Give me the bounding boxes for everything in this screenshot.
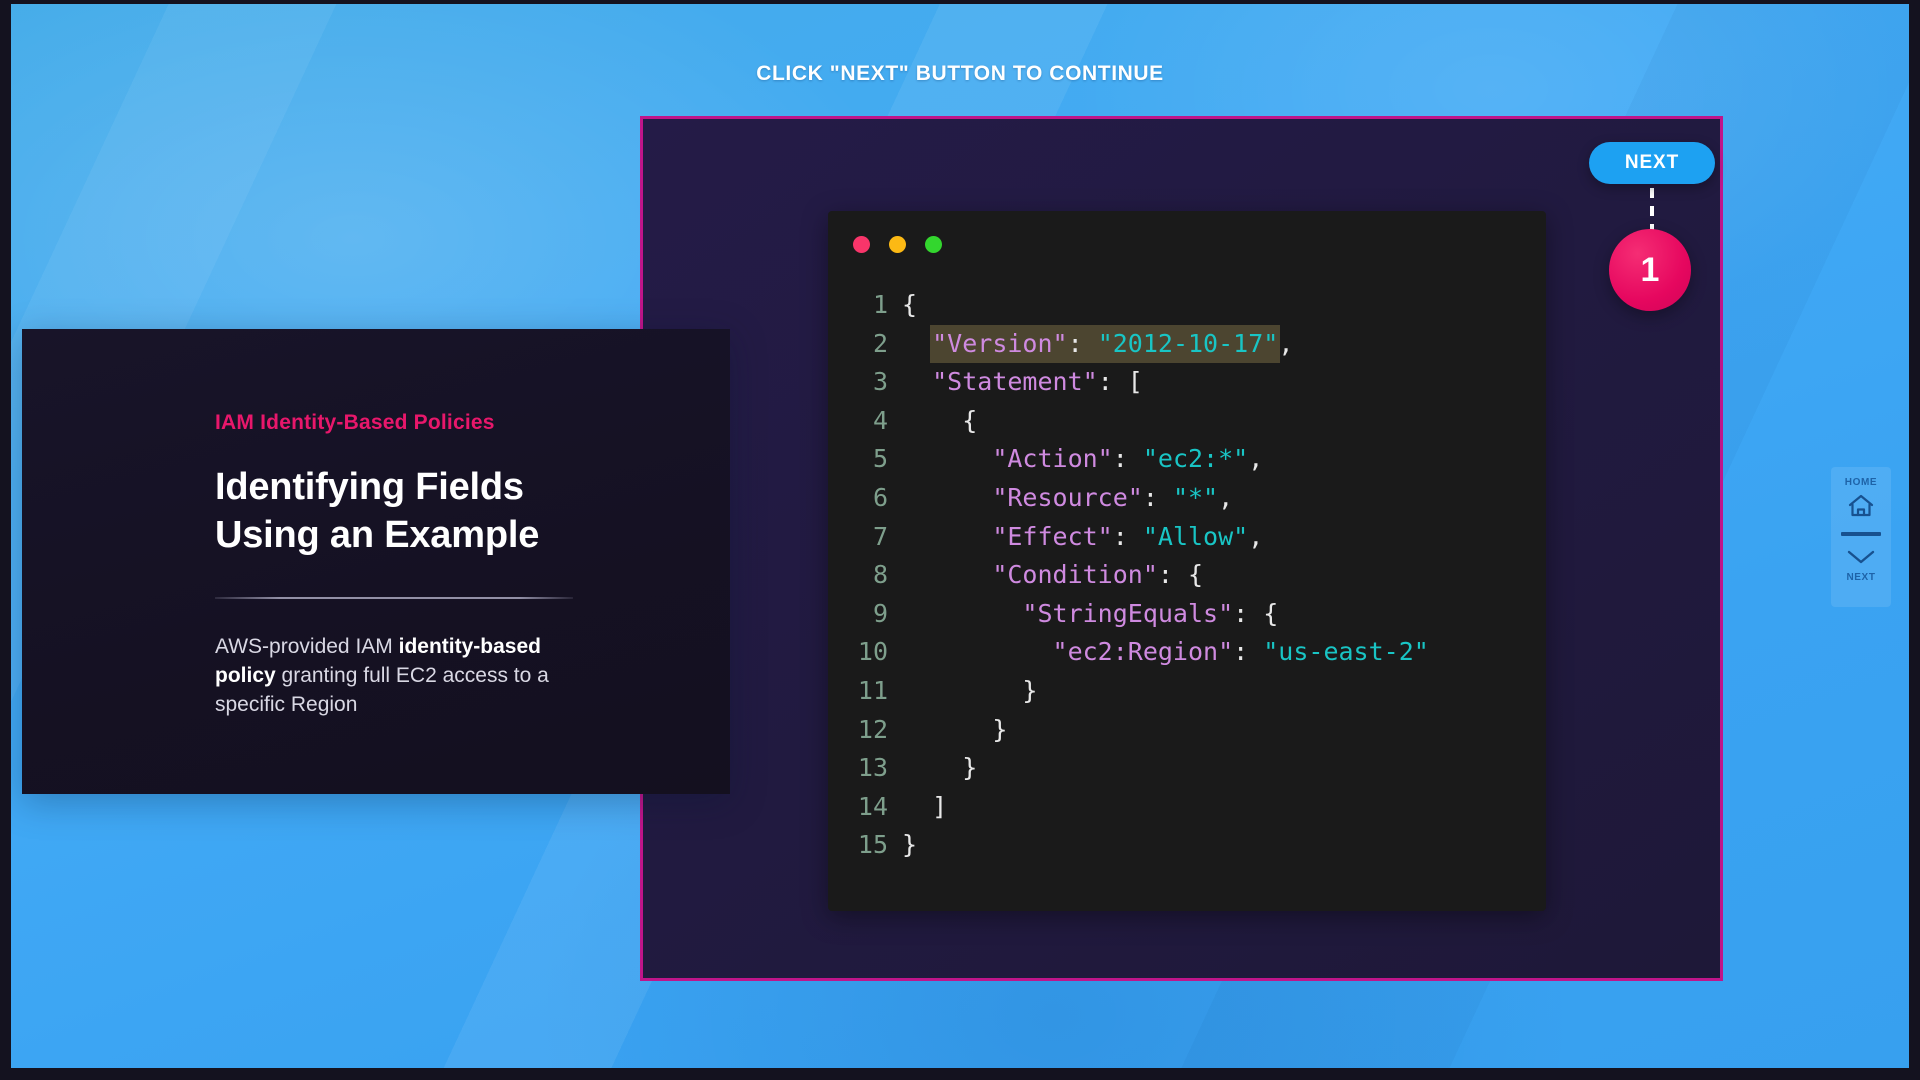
code-token: { xyxy=(962,406,977,435)
code-token: "StringEquals" xyxy=(1022,599,1233,628)
code-line: 13 } xyxy=(850,749,1536,788)
code-highlight: "Version": "2012-10-17" xyxy=(930,325,1280,363)
code-line-text: "Statement": [ xyxy=(902,363,1143,402)
code-line-text: } xyxy=(902,711,1007,750)
code-token: "Effect" xyxy=(992,522,1112,551)
code-line-number: 8 xyxy=(850,556,902,595)
code-token: : [ xyxy=(1098,367,1143,396)
card-eyebrow: IAM Identity-Based Policies xyxy=(215,411,690,435)
code-listing[interactable]: 1{2 "Version": "2012-10-17",3 "Statement… xyxy=(850,286,1536,865)
code-token: : { xyxy=(1158,560,1203,589)
code-token: { xyxy=(902,290,917,319)
code-line-text: { xyxy=(902,402,977,441)
code-token: : { xyxy=(1233,599,1278,628)
maximize-icon[interactable] xyxy=(925,236,942,253)
page-title: Identifying Fields Using an Example xyxy=(215,463,690,559)
code-line-number: 9 xyxy=(850,595,902,634)
code-line-text: "Effect": "Allow", xyxy=(902,518,1263,557)
code-line: 9 "StringEquals": { xyxy=(850,595,1536,634)
code-line-text: } xyxy=(902,826,917,865)
code-token: : xyxy=(1068,329,1098,358)
code-token: : xyxy=(1233,637,1263,666)
code-token: , xyxy=(1248,522,1263,551)
chevron-down-icon[interactable] xyxy=(1846,549,1876,570)
code-line-number: 14 xyxy=(850,788,902,827)
code-line-text: ] xyxy=(902,788,947,827)
outer-frame: CLICK "NEXT" BUTTON TO CONTINUE 1{2 "Ver… xyxy=(0,0,1920,1080)
code-line: 6 "Resource": "*", xyxy=(850,479,1536,518)
code-line-text: "Resource": "*", xyxy=(902,479,1233,518)
code-token: , xyxy=(1278,329,1293,358)
code-line: 2 "Version": "2012-10-17", xyxy=(850,325,1536,364)
divider xyxy=(215,597,573,599)
code-line-number: 1 xyxy=(850,286,902,325)
navigation-rail[interactable]: HOME NEXT xyxy=(1831,467,1891,607)
code-line-number: 2 xyxy=(850,325,902,364)
code-token: "Condition" xyxy=(992,560,1158,589)
code-line: 15} xyxy=(850,826,1536,865)
code-line-number: 11 xyxy=(850,672,902,711)
code-line-number: 10 xyxy=(850,633,902,672)
code-line: 1{ xyxy=(850,286,1536,325)
code-token: "*" xyxy=(1173,483,1218,512)
code-token: : xyxy=(1113,444,1143,473)
code-token: "Action" xyxy=(992,444,1112,473)
rail-home-label: HOME xyxy=(1845,477,1877,488)
next-button[interactable]: NEXT xyxy=(1589,142,1715,184)
code-line-text: "Condition": { xyxy=(902,556,1203,595)
code-line: 7 "Effect": "Allow", xyxy=(850,518,1536,557)
code-line-text: { xyxy=(902,286,917,325)
code-line: 8 "Condition": { xyxy=(850,556,1536,595)
window-traffic-lights xyxy=(853,236,942,253)
info-card: IAM Identity-Based Policies Identifying … xyxy=(22,329,730,794)
content-panel: 1{2 "Version": "2012-10-17",3 "Statement… xyxy=(640,116,1723,981)
code-token: , xyxy=(1248,444,1263,473)
instruction-banner: CLICK "NEXT" BUTTON TO CONTINUE xyxy=(11,62,1909,86)
code-token: : xyxy=(1143,483,1173,512)
code-line-number: 12 xyxy=(850,711,902,750)
code-line-text: "Action": "ec2:*", xyxy=(902,440,1263,479)
code-token: ] xyxy=(932,792,947,821)
code-line: 14 ] xyxy=(850,788,1536,827)
body-text-part-1: AWS-provided IAM xyxy=(215,635,399,658)
code-line-text: "Version": "2012-10-17", xyxy=(902,325,1293,364)
code-token: "Allow" xyxy=(1143,522,1248,551)
code-line-number: 15 xyxy=(850,826,902,865)
info-card-content: IAM Identity-Based Policies Identifying … xyxy=(215,411,690,719)
headline-line-2: Using an Example xyxy=(215,514,539,556)
code-line-text: } xyxy=(902,672,1037,711)
code-window: 1{2 "Version": "2012-10-17",3 "Statement… xyxy=(828,211,1546,911)
code-token: } xyxy=(992,715,1007,744)
callout-connector-line xyxy=(1650,188,1654,231)
code-token: } xyxy=(902,830,917,859)
rail-next-label: NEXT xyxy=(1846,572,1875,583)
code-token: "Version" xyxy=(932,329,1067,358)
slide-canvas: CLICK "NEXT" BUTTON TO CONTINUE 1{2 "Ver… xyxy=(11,4,1909,1068)
code-line-number: 5 xyxy=(850,440,902,479)
code-line: 3 "Statement": [ xyxy=(850,363,1536,402)
code-token: "Resource" xyxy=(992,483,1143,512)
code-line-number: 3 xyxy=(850,363,902,402)
code-line: 10 "ec2:Region": "us-east-2" xyxy=(850,633,1536,672)
code-token: "us-east-2" xyxy=(1263,637,1429,666)
code-token: "ec2:*" xyxy=(1143,444,1248,473)
code-line-text: "ec2:Region": "us-east-2" xyxy=(902,633,1429,672)
code-line: 5 "Action": "ec2:*", xyxy=(850,440,1536,479)
code-line-number: 6 xyxy=(850,479,902,518)
card-body-text: AWS-provided IAM identity-based policy g… xyxy=(215,632,565,719)
step-number-badge: 1 xyxy=(1609,229,1691,311)
code-line-text: } xyxy=(902,749,977,788)
minimize-icon[interactable] xyxy=(889,236,906,253)
code-line-number: 13 xyxy=(850,749,902,788)
code-token: "ec2:Region" xyxy=(1053,637,1234,666)
code-line: 4 { xyxy=(850,402,1536,441)
code-line: 12 } xyxy=(850,711,1536,750)
code-token: "Statement" xyxy=(932,367,1098,396)
rail-divider xyxy=(1841,532,1881,536)
code-line-number: 4 xyxy=(850,402,902,441)
headline-line-1: Identifying Fields xyxy=(215,466,524,508)
code-token: : xyxy=(1113,522,1143,551)
code-line-text: "StringEquals": { xyxy=(902,595,1278,634)
home-icon[interactable] xyxy=(1847,493,1875,524)
code-line-number: 7 xyxy=(850,518,902,557)
code-token: } xyxy=(962,753,977,782)
code-line: 11 } xyxy=(850,672,1536,711)
code-token: } xyxy=(1022,676,1037,705)
close-icon[interactable] xyxy=(853,236,870,253)
code-token: , xyxy=(1218,483,1233,512)
code-token: "2012-10-17" xyxy=(1098,329,1279,358)
